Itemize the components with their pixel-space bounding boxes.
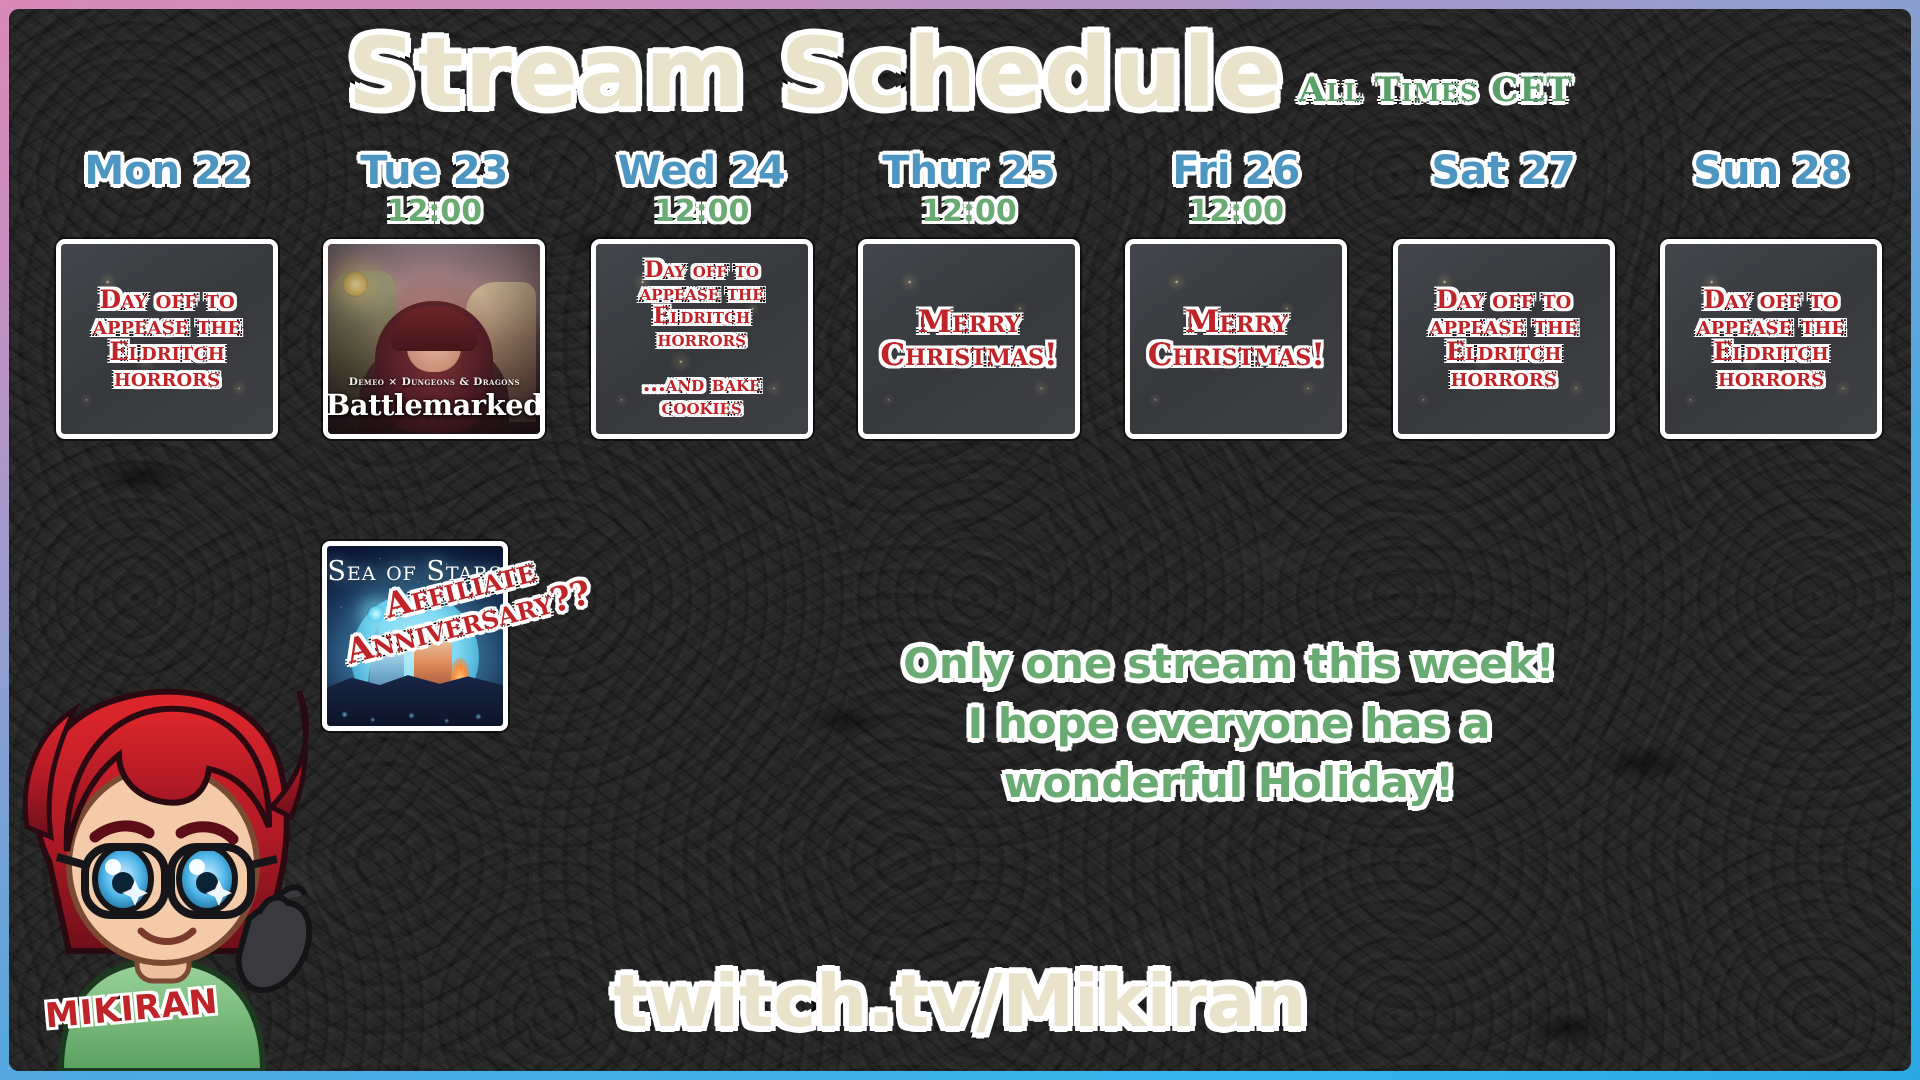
game-title-label: Battlemarked (326, 391, 543, 420)
card-line: Merry (918, 306, 1021, 339)
eye-highlight-left (105, 859, 121, 875)
card-line: Eldritch (1713, 339, 1828, 365)
day-header-fri: Fri 26 (1172, 149, 1300, 193)
card-line: horrors (1718, 365, 1824, 391)
gloved-hand (239, 902, 309, 990)
card-text-block: Day off to appease the Eldritch horrors (1398, 244, 1610, 434)
day-column-wed: Wed 24 12:00 Day off to appease the Eldr… (576, 149, 828, 439)
day-header-sun: Sun 28 (1693, 149, 1848, 193)
game-logo-block: Demeo × Dungeons & Dragons Battlemarked (328, 376, 540, 420)
card-line: appease the (640, 282, 764, 305)
day-header-tue: Tue 23 (360, 149, 508, 193)
message-line: wonderful Holiday! (829, 753, 1629, 813)
day-column-thur: Thur 25 12:00 Merry Christmas! (843, 149, 1095, 439)
schedule-card-sun[interactable]: Day off to appease the Eldritch horrors (1660, 239, 1882, 439)
card-line: horrors (114, 365, 220, 391)
card-line: Christmas! (1148, 339, 1325, 372)
card-line: Day off to (644, 259, 759, 282)
card-line: appease the (1430, 313, 1578, 339)
card-line: Eldritch (1446, 339, 1561, 365)
day-column-tue: Tue 23 12:00 Demeo × Dungeons & Dr (308, 149, 560, 439)
poster-frame: Stream Schedule All Times CET Mon 22 Day… (0, 0, 1920, 1080)
card-line: appease the (93, 313, 241, 339)
card-line-extra: cookies (661, 396, 741, 419)
day-column-sun: Sun 28 Day off to appease the Eldritch h… (1645, 149, 1897, 439)
message-line: I hope everyone has a (829, 694, 1629, 754)
card-line: appease the (1697, 313, 1845, 339)
card-text-block: Merry Christmas! (1130, 244, 1342, 434)
card-line: horrors (1451, 365, 1557, 391)
day-column-fri: Fri 26 12:00 Merry Christmas! (1110, 149, 1362, 439)
crystals (327, 674, 503, 726)
card-line: Day off to (1436, 287, 1571, 313)
day-time-fri: 12:00 (1189, 197, 1285, 229)
day-header-wed: Wed 24 (618, 149, 786, 193)
day-header-mon: Mon 22 (84, 149, 249, 193)
card-line: Day off to (99, 287, 234, 313)
card-text-block: Day off to appease the Eldritch horrors (1665, 244, 1877, 434)
poster-stage: Stream Schedule All Times CET Mon 22 Day… (9, 9, 1911, 1071)
schedule-card-tue-battlemarked[interactable]: Demeo × Dungeons & Dragons Battlemarked (323, 239, 545, 439)
card-text-block: Merry Christmas! (863, 244, 1075, 434)
day-header-sat: Sat 27 (1431, 149, 1576, 193)
card-line-extra: ...and bake (643, 373, 761, 396)
week-grid: Mon 22 Day off to appease the Eldritch h… (41, 149, 1897, 439)
day-time-tue: 12:00 (387, 197, 483, 229)
message-line: Only one stream this week! (829, 634, 1629, 694)
header: Stream Schedule All Times CET (9, 23, 1911, 124)
timezone-note: All Times CET (1299, 70, 1573, 110)
card-line: Merry (1185, 306, 1288, 339)
message-block: Only one stream this week! I hope everyo… (829, 634, 1629, 813)
card-text-block: Day off to appease the Eldritch horrors … (596, 244, 808, 434)
eye-highlight-right (189, 859, 205, 875)
schedule-card-thur[interactable]: Merry Christmas! (858, 239, 1080, 439)
schedule-card-fri[interactable]: Merry Christmas! (1125, 239, 1347, 439)
day-header-thur: Thur 25 (882, 149, 1056, 193)
day-time-thur: 12:00 (921, 197, 1017, 229)
day-time-wed: 12:00 (654, 197, 750, 229)
card-line: Christmas! (880, 339, 1057, 372)
game-franchise-label: Demeo × Dungeons & Dragons (349, 376, 520, 388)
card-line: Eldritch (109, 339, 224, 365)
page-title: Stream Schedule (347, 23, 1282, 124)
schedule-card-wed[interactable]: Day off to appease the Eldritch horrors … (591, 239, 813, 439)
card-line: Eldritch (653, 305, 750, 328)
schedule-card-sat[interactable]: Day off to appease the Eldritch horrors (1393, 239, 1615, 439)
card-line: horrors (657, 328, 746, 351)
day-column-mon: Mon 22 Day off to appease the Eldritch h… (41, 149, 293, 439)
schedule-card-mon[interactable]: Day off to appease the Eldritch horrors (56, 239, 278, 439)
card-text-block: Day off to appease the Eldritch horrors (61, 244, 273, 434)
day-column-sat: Sat 27 Day off to appease the Eldritch h… (1378, 149, 1630, 439)
card-line: Day off to (1703, 287, 1838, 313)
